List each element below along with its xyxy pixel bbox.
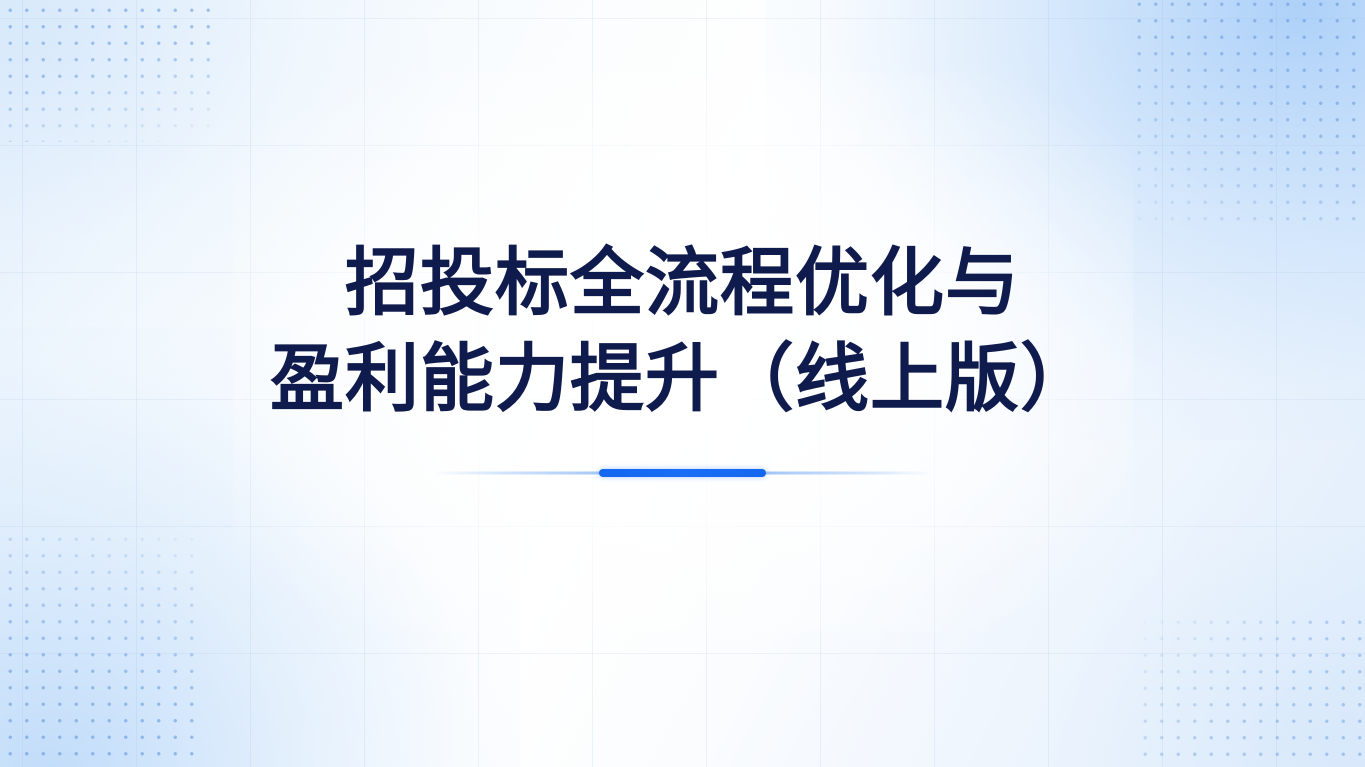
title-divider xyxy=(433,464,933,482)
slide-content: 招投标全流程优化与 盈利能力提升（线上版） xyxy=(0,0,1365,767)
divider-accent-bar xyxy=(599,469,766,477)
title-slide: 招投标全流程优化与 盈利能力提升（线上版） xyxy=(0,0,1365,767)
title-line-1: 招投标全流程优化与 xyxy=(345,239,1020,326)
title-line-2: 盈利能力提升（线上版） xyxy=(270,335,1095,422)
page-title: 招投标全流程优化与 盈利能力提升（线上版） xyxy=(270,239,1095,422)
